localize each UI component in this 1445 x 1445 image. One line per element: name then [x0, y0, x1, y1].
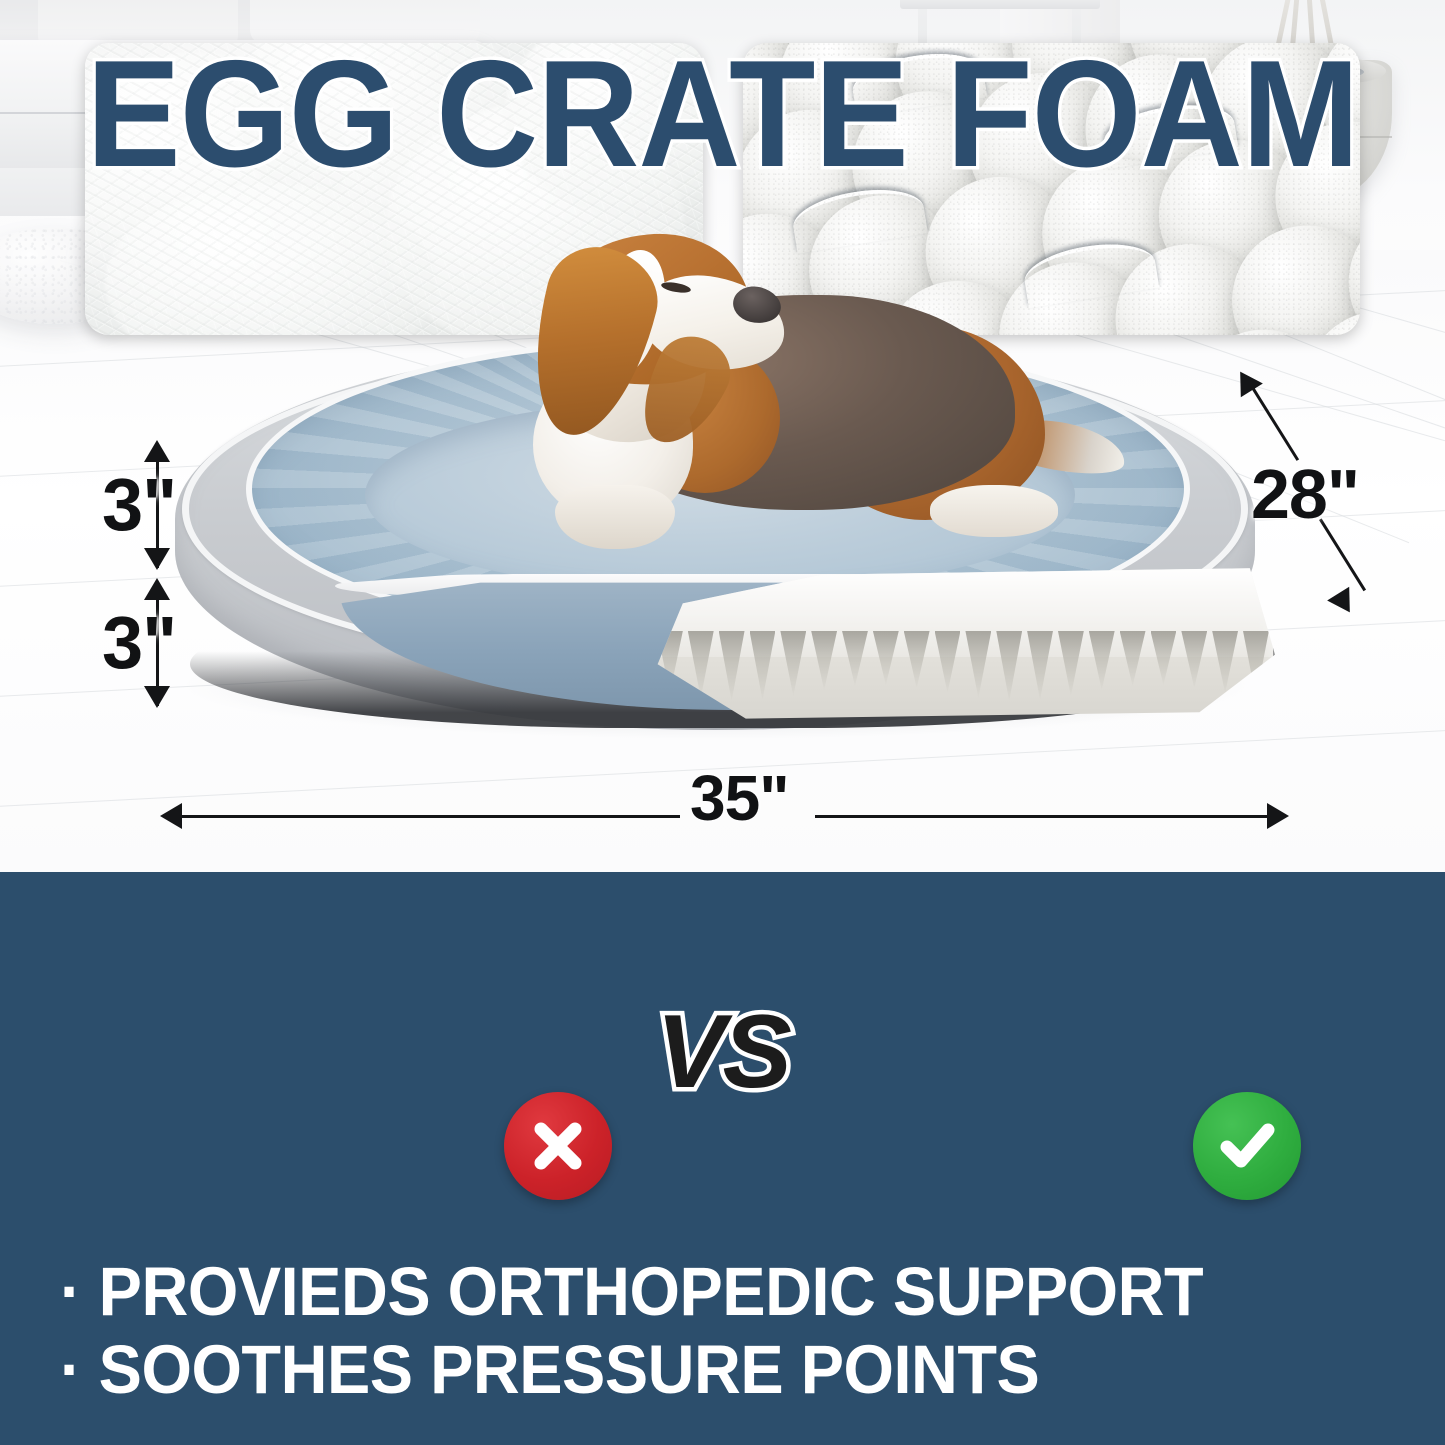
beagle-dog: [415, 235, 1115, 565]
dim-arrow-down-top: [144, 548, 170, 570]
dim-arrow-left: [160, 803, 182, 829]
dog-rear-paw: [930, 485, 1058, 537]
foam-peak: [965, 631, 991, 698]
check-circle-icon: [1193, 1092, 1301, 1200]
width-dimension-group: 35": [160, 795, 1290, 835]
height-dimension-group: 3" 3": [100, 440, 220, 710]
foam-peak: [780, 631, 806, 696]
foam-peak: [842, 631, 868, 686]
foam-peak: [1212, 631, 1238, 693]
dim-label-bolster-height: 3": [102, 462, 176, 547]
infographic-page: EGG CRATE FOAM: [0, 0, 1445, 1445]
foam-peak: [1120, 631, 1146, 686]
dog-front-leg: [555, 485, 675, 549]
foam-peak: [1181, 631, 1207, 688]
dim-label-base-height: 3": [102, 600, 176, 685]
benefit-item: · SOOTHES PRESSURE POINTS: [60, 1331, 1320, 1409]
console-table-top: [900, 0, 1100, 9]
versus-label: VS: [0, 1000, 1445, 1104]
dim-line-depth-top: [1251, 386, 1299, 461]
depth-dimension-group: 28": [1225, 370, 1395, 620]
page-title: EGG CRATE FOAM: [51, 38, 1395, 190]
foam-peak: [904, 631, 930, 688]
foam-peak: [1151, 631, 1177, 685]
foam-peak: [873, 631, 899, 685]
foam-peak: [811, 631, 837, 690]
hero-section: EGG CRATE FOAM: [0, 0, 1445, 872]
foam-peak: [1089, 631, 1115, 690]
foam-peak: [1027, 631, 1053, 700]
dim-arrow-right: [1267, 803, 1289, 829]
foam-peak: [996, 631, 1022, 701]
foam-peak: [935, 631, 961, 693]
dim-arrow-down-bottom: [144, 686, 170, 708]
egg-crate-foam-cross-section: [657, 631, 1269, 705]
foam-peak: [750, 631, 776, 700]
dim-label-width: 35": [690, 761, 789, 835]
dim-line-right: [815, 815, 1267, 818]
benefit-item: · PROVIEDS ORTHOPEDIC SUPPORT: [60, 1253, 1320, 1331]
foam-peak: [719, 631, 745, 701]
benefits-list: · PROVIEDS ORTHOPEDIC SUPPORT · SOOTHES …: [60, 1253, 1320, 1409]
x-circle-icon: [504, 1092, 612, 1200]
dim-label-depth: 28": [1251, 454, 1359, 534]
dim-line-left: [180, 815, 680, 818]
dim-arrow-up-top: [144, 440, 170, 462]
dim-arrow-depth-bottom: [1327, 587, 1361, 619]
foam-peak: [1058, 631, 1084, 696]
dim-arrow-up-bottom: [144, 578, 170, 600]
